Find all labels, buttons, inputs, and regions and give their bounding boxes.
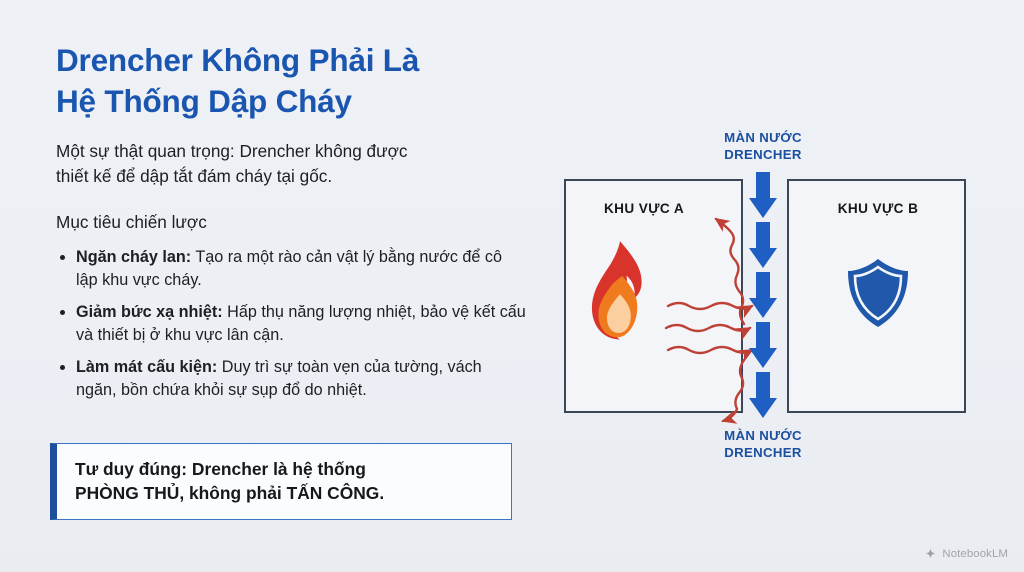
slide-root: Drencher Không Phải Là Hệ Thống Dập Cháy… <box>0 0 1024 572</box>
watermark-label: NotebookLM <box>942 548 1008 560</box>
list-item-term: Làm mát cấu kiện: <box>76 358 217 376</box>
lead-paragraph: Một sự thật quan trọng: Drencher không đ… <box>56 139 526 190</box>
list-item: Làm mát cấu kiện: Duy trì sự toàn vẹn củ… <box>56 356 526 402</box>
notebooklm-spark-icon <box>924 547 937 560</box>
drencher-diagram: MÀN NƯỚC DRENCHER KHU VỰC A KHU VỰC B <box>548 128 996 468</box>
section-label: Mục tiêu chiến lược <box>56 210 526 234</box>
notebooklm-watermark: NotebookLM <box>924 547 1008 560</box>
water-curtain-arrows <box>749 172 777 418</box>
left-content-column: Drencher Không Phải Là Hệ Thống Dập Cháy… <box>56 40 526 411</box>
diagram-bottom-label-line1: MÀN NƯỚC <box>724 428 802 443</box>
diagram-top-label-line2: DRENCHER <box>724 147 802 162</box>
zone-b-label: KHU VỰC B <box>838 201 919 216</box>
list-item: Giảm bức xạ nhiệt: Hấp thụ năng lượng nh… <box>56 301 526 347</box>
list-item: Ngăn cháy lan: Tạo ra một rào cản vật lý… <box>56 246 526 292</box>
page-title: Drencher Không Phải Là Hệ Thống Dập Cháy <box>56 40 526 122</box>
key-takeaway-text: Tư duy đúng: Drencher là hệ thống PHÒNG … <box>75 457 495 505</box>
key-takeaway-callout: Tư duy đúng: Drencher là hệ thống PHÒNG … <box>50 443 512 520</box>
objectives-list: Ngăn cháy lan: Tạo ra một rào cản vật lý… <box>56 246 526 402</box>
diagram-bottom-label-line2: DRENCHER <box>724 445 802 460</box>
diagram-top-label-line1: MÀN NƯỚC <box>724 130 802 145</box>
list-item-term: Giảm bức xạ nhiệt: <box>76 303 223 321</box>
list-item-term: Ngăn cháy lan: <box>76 248 191 266</box>
zone-a-label: KHU VỰC A <box>604 201 684 216</box>
